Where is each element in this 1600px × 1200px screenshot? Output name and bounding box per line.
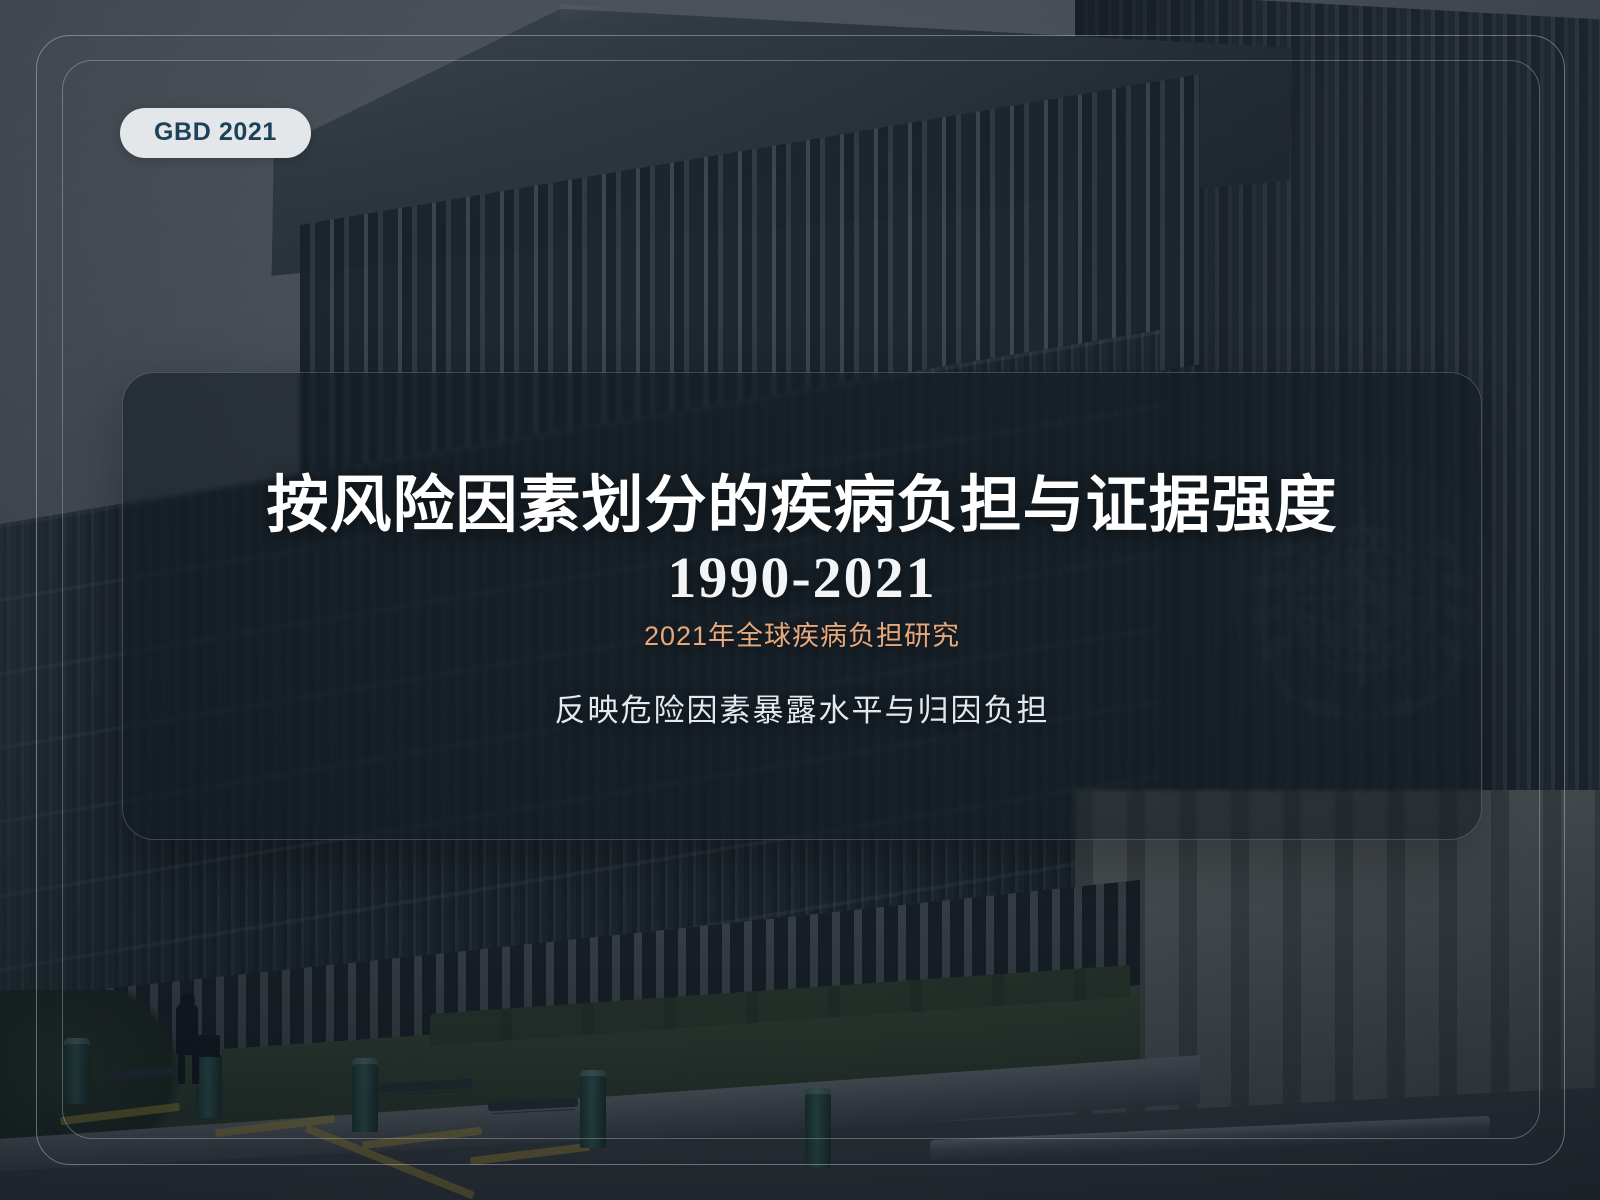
- title-card: 按风险因素划分的疾病负担与证据强度 1990-2021 2021年全球疾病负担研…: [122, 372, 1482, 840]
- title-slide: GBD 2021 按风险因素划分的疾病负担与证据强度 1990-2021 202…: [0, 0, 1600, 1200]
- study-subtitle: 2021年全球疾病负担研究: [644, 614, 960, 653]
- title-card-content: 按风险因素划分的疾病负担与证据强度 1990-2021 2021年全球疾病负担研…: [123, 373, 1481, 839]
- page-title: 按风险因素划分的疾病负担与证据强度: [266, 473, 1337, 540]
- year-range: 1990-2021: [667, 546, 936, 610]
- gbd-year-badge: GBD 2021: [120, 108, 311, 158]
- tagline: 反映危险因素暴露水平与归因负担: [555, 685, 1050, 730]
